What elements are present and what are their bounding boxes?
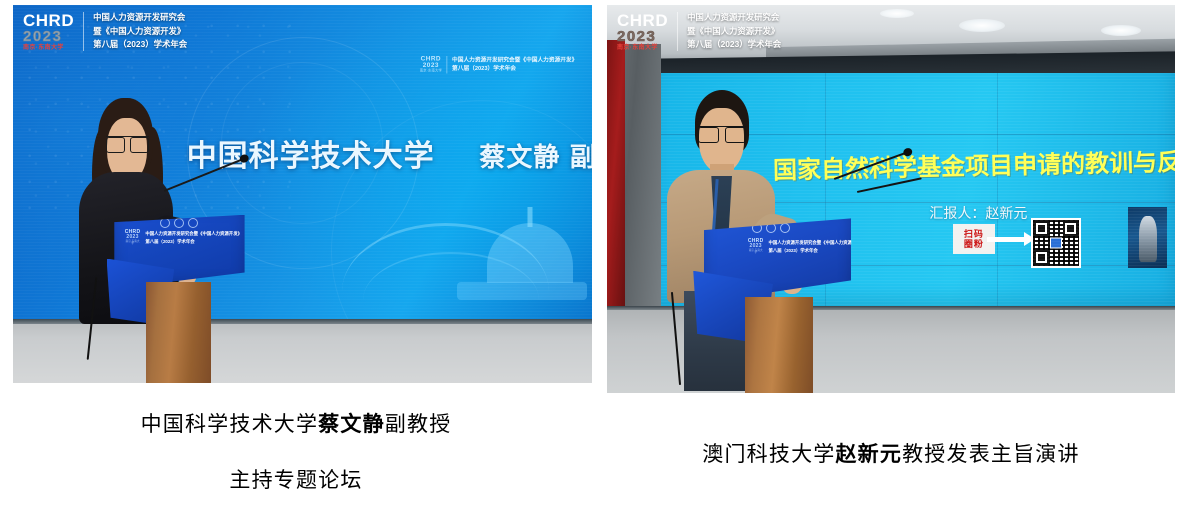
seal-emblem (780, 223, 790, 233)
header-text-line3: 第八届（2023）学术年会 (687, 38, 781, 52)
logo-year-text: 2023 (420, 62, 442, 69)
dome-building-decor (487, 223, 573, 283)
podium-wood-base (745, 297, 813, 393)
bridge-arc-decor (342, 223, 550, 292)
divider (677, 12, 678, 51)
seal-emblem (752, 223, 762, 233)
podium-seal-emblems (742, 223, 801, 233)
qr-finder-icon (1063, 221, 1078, 236)
seal-emblem (766, 223, 776, 233)
ceiling-light-icon (959, 19, 1005, 32)
header-text-line1: 中国人力资源开发研究会 (687, 11, 781, 25)
caption-right-suffix: 教授发表主旨演讲 (902, 442, 1080, 466)
qr-finder-icon (1034, 221, 1049, 236)
logo-chrd-text: CHRD (420, 56, 442, 63)
podium-text-line1: 中国人力资源开发研究会暨《中国人力资源开发》 (769, 239, 866, 246)
ceiling-light-icon (1101, 25, 1141, 36)
skyline-silhouette (326, 175, 592, 320)
poster-figure (1139, 216, 1157, 261)
logo-chrd-text: CHRD (617, 12, 668, 29)
divider (447, 56, 448, 73)
screen-university-name: 中国科学技术大学 (187, 140, 435, 173)
qr-pattern (1033, 220, 1079, 266)
glasses-icon (106, 136, 148, 151)
chrd-logo-mark: CHRD 2023 南京·东南大学 (125, 230, 141, 247)
red-note-line1: 扫码 (964, 229, 984, 239)
podium-left: CHRD 2023 南京·东南大学 中国人力资源开发研究会暨《中国人力资源开发》… (114, 215, 244, 383)
header-text-line2: 暨《中国人力资源开发》 (93, 25, 187, 39)
seal-emblem (188, 218, 198, 228)
podium-right: CHRD 2023 南京·东南大学 中国人力资源开发研究会暨《中国人力资源开发》… (704, 218, 852, 393)
podium-lockup: CHRD 2023 南京·东南大学 中国人力资源开发研究会暨《中国人力资源开发》… (125, 230, 237, 247)
slide-title: 国家自然科学基金项目申请的教训与反思 (772, 141, 1175, 185)
red-curtain (607, 40, 625, 347)
podium-conference-text: 中国人力资源开发研究会暨《中国人力资源开发》 第八届（2023）学术年会 (769, 239, 866, 254)
podium-conference-text: 中国人力资源开发研究会暨《中国人力资源开发》 第八届（2023）学术年会 (145, 230, 242, 245)
slide-side-poster (1128, 207, 1167, 268)
floor-left (13, 319, 592, 383)
corner-text-line1: 中国人力资源开发研究会暨《中国人力资源开发》 (452, 56, 577, 65)
podium-text-line2: 第八届（2023）学术年会 (145, 238, 242, 245)
screen-speaker-title: 副教授 (570, 142, 592, 172)
logo-year-text: 2023 (617, 29, 668, 44)
caption-left-prefix: 中国科学技术大学 (141, 412, 319, 436)
logo-host-text: 南京·东南大学 (125, 241, 141, 247)
caption-left-line2: 主持专题论坛 (0, 470, 592, 491)
caption-left-bold-name: 蔡文静 (318, 412, 385, 436)
qr-finder-icon (1034, 250, 1049, 265)
overlay-header-lockup-left: CHRD 2023 南京·东南大学 中国人力资源开发研究会 暨《中国人力资源开发… (23, 11, 187, 52)
divider (83, 12, 84, 51)
header-text-line1: 中国人力资源开发研究会 (93, 11, 187, 25)
caption-right-prefix: 澳门科技大学 (702, 442, 835, 466)
screen-speaker-name: 蔡文静 (479, 142, 560, 172)
logo-host-text: 南京·东南大学 (617, 45, 668, 51)
arrow-right-icon (987, 237, 1025, 242)
overlay-header-lockup-right: CHRD 2023 南京·东南大学 中国人力资源开发研究会 暨《中国人力资源开发… (617, 11, 781, 52)
chrd-logo-mark: CHRD 2023 南京·东南大学 (748, 239, 764, 256)
podium-seal-emblems (153, 218, 205, 228)
caption-left-suffix: 副教授 (385, 412, 452, 436)
red-note-line2: 圈粉 (964, 239, 984, 249)
caption-right-line1: 澳门科技大学赵新元教授发表主旨演讲 (607, 444, 1175, 465)
logo-chrd-text: CHRD (23, 12, 74, 29)
caption-left-line1: 中国科学技术大学蔡文静副教授 (0, 414, 592, 435)
corner-text-line2: 第八届（2023）学术年会 (452, 64, 577, 73)
glasses-icon (698, 126, 747, 142)
slide-presenter-label: 汇报人：赵新元 (929, 203, 1027, 223)
caption-right-bold-name: 赵新元 (835, 442, 902, 466)
header-conference-text-left: 中国人力资源开发研究会 暨《中国人力资源开发》 第八届（2023）学术年会 (93, 11, 187, 52)
logo-host-text: 南京·东南大学 (748, 250, 764, 256)
header-text-line3: 第八届（2023）学术年会 (93, 38, 187, 52)
led-panel-seam (997, 73, 998, 308)
screen-main-title: 中国科学技术大学 蔡文静 副教授 (187, 131, 592, 175)
podium-lockup: CHRD 2023 南京·东南大学 中国人力资源开发研究会暨《中国人力资源开发》… (748, 239, 845, 256)
qr-code-icon (1031, 218, 1081, 268)
figure-left: CHRD 2023 南京·东南大学 中国人力资源开发研究会暨《中国人力资源开发》… (13, 5, 592, 383)
seal-emblem (160, 218, 170, 228)
podium-text-line2: 第八届（2023）学术年会 (769, 247, 866, 254)
chrd-logo-mark: CHRD 2023 南京·东南大学 (617, 12, 668, 51)
photo-speaker-cai-wenjing: CHRD 2023 南京·东南大学 中国人力资源开发研究会暨《中国人力资源开发》… (13, 5, 592, 383)
logo-host-text: 南京·东南大学 (23, 45, 74, 51)
decor-ring (221, 62, 383, 224)
figure-right: 国家自然科学基金项目申请的教训与反思 汇报人：赵新元 扫码 圈粉 (607, 5, 1175, 393)
photo-page: CHRD 2023 南京·东南大学 中国人力资源开发研究会暨《中国人力资源开发》… (0, 0, 1193, 507)
photo-speaker-zhao-xinyuan: 国家自然科学基金项目申请的教训与反思 汇报人：赵新元 扫码 圈粉 (607, 5, 1175, 393)
slide-red-note: 扫码 圈粉 (953, 224, 995, 254)
seal-emblem (174, 218, 184, 228)
logo-year-text: 2023 (23, 29, 74, 44)
header-conference-text-right: 中国人力资源开发研究会 暨《中国人力资源开发》 第八届（2023）学术年会 (687, 11, 781, 52)
chrd-logo-mark: CHRD 2023 南京·东南大学 (420, 56, 442, 73)
qr-center-logo-icon (1050, 238, 1062, 249)
screen-corner-conference-text: 中国人力资源开发研究会暨《中国人力资源开发》 第八届（2023）学术年会 (452, 56, 577, 73)
podium-wood-base (146, 282, 211, 383)
dome-base-decor (457, 282, 587, 300)
logo-host-text: 南京·东南大学 (420, 69, 442, 72)
header-text-line2: 暨《中国人力资源开发》 (687, 25, 781, 39)
podium-text-line1: 中国人力资源开发研究会暨《中国人力资源开发》 (145, 230, 242, 237)
screen-corner-lockup: CHRD 2023 南京·东南大学 中国人力资源开发研究会暨《中国人力资源开发》… (420, 56, 578, 73)
ceiling-light-icon (880, 9, 914, 18)
chrd-logo-mark: CHRD 2023 南京·东南大学 (23, 12, 74, 51)
bridge-arc-decor (363, 252, 539, 300)
